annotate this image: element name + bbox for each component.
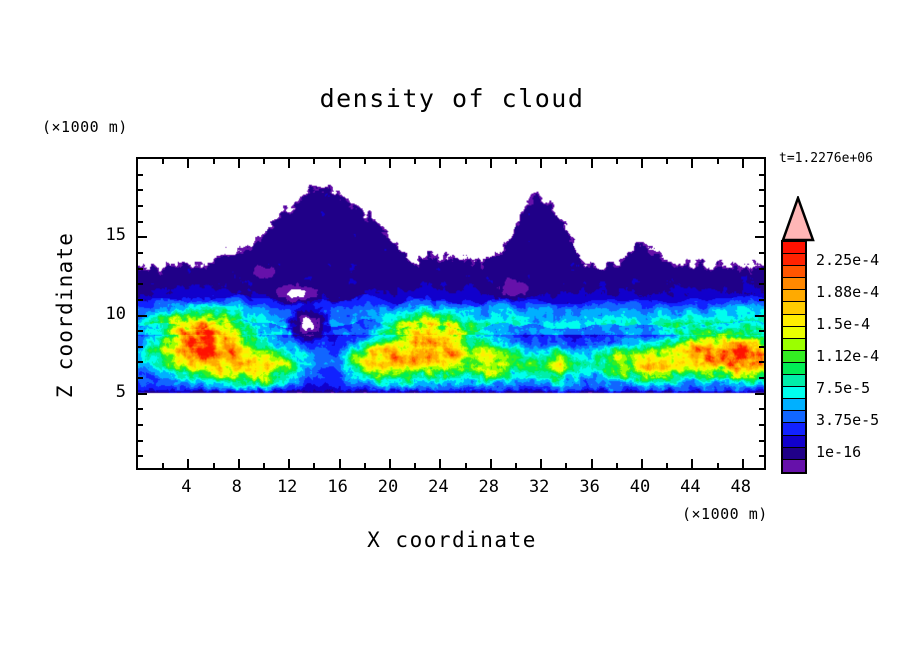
x-tick-minor xyxy=(465,463,467,468)
y-tick-right-minor xyxy=(759,221,764,223)
x-tick-minor xyxy=(414,463,416,468)
y-tick-right-minor xyxy=(759,424,764,426)
colorbar-tick-label: 3.75e-5 xyxy=(816,411,879,429)
x-tick-label: 40 xyxy=(630,477,650,497)
y-tick-right-minor xyxy=(759,377,764,379)
contour-field xyxy=(138,159,764,468)
x-tick-top-minor xyxy=(565,159,567,164)
colorbar-band xyxy=(783,339,805,351)
x-tick-label: 12 xyxy=(277,477,297,497)
x-tick-minor xyxy=(515,463,517,468)
plot-area xyxy=(136,157,766,470)
y-tick-right-minor xyxy=(759,440,764,442)
page-title: density of cloud xyxy=(0,84,904,113)
x-tick-label: 48 xyxy=(731,477,751,497)
x-tick-major xyxy=(742,459,744,468)
x-tick-top-major xyxy=(742,159,744,168)
colorbar-band xyxy=(783,290,805,302)
y-tick-minor xyxy=(138,252,143,254)
x-tick-major xyxy=(540,459,542,468)
colorbar-band xyxy=(783,327,805,339)
figure-canvas: density of cloud (×1000 m) (×1000 m) X c… xyxy=(0,0,904,654)
x-tick-minor xyxy=(313,463,315,468)
x-tick-top-major xyxy=(591,159,593,168)
colorbar-band xyxy=(783,436,805,448)
colorbar-band xyxy=(783,399,805,411)
x-tick-major xyxy=(641,459,643,468)
y-tick-major xyxy=(138,236,147,238)
x-tick-minor xyxy=(717,463,719,468)
x-tick-top-minor xyxy=(364,159,366,164)
x-tick-major xyxy=(691,459,693,468)
y-tick-minor xyxy=(138,221,143,223)
y-tick-right-minor xyxy=(759,299,764,301)
colorbar-band xyxy=(783,315,805,327)
x-axis-units-label: (×1000 m) xyxy=(682,505,768,523)
x-tick-top-major xyxy=(490,159,492,168)
y-tick-right-minor xyxy=(759,252,764,254)
colorbar-band xyxy=(783,423,805,435)
y-tick-minor xyxy=(138,174,143,176)
x-tick-top-minor xyxy=(616,159,618,164)
y-tick-minor xyxy=(138,205,143,207)
colorbar-band xyxy=(783,242,805,254)
x-tick-major xyxy=(187,459,189,468)
y-tick-minor xyxy=(138,299,143,301)
colorbar-band xyxy=(783,278,805,290)
colorbar-band xyxy=(783,363,805,375)
x-tick-top-major xyxy=(641,159,643,168)
x-tick-top-major xyxy=(187,159,189,168)
colorbar-band xyxy=(783,375,805,387)
x-tick-top-major xyxy=(439,159,441,168)
y-tick-minor xyxy=(138,455,143,457)
y-tick-right-minor xyxy=(759,361,764,363)
colorbar-band xyxy=(783,266,805,278)
x-tick-top-minor xyxy=(666,159,668,164)
y-tick-minor xyxy=(138,346,143,348)
x-tick-top-minor xyxy=(313,159,315,164)
y-tick-right-minor xyxy=(759,346,764,348)
x-tick-top-minor xyxy=(414,159,416,164)
colorbar-band xyxy=(783,460,805,472)
x-tick-label: 4 xyxy=(181,477,191,497)
x-tick-top-major xyxy=(238,159,240,168)
colorbar-tick-label: 1.12e-4 xyxy=(816,347,879,365)
x-tick-minor xyxy=(565,463,567,468)
x-tick-label: 32 xyxy=(529,477,549,497)
y-tick-right-major xyxy=(755,236,764,238)
x-tick-major xyxy=(389,459,391,468)
x-tick-minor xyxy=(213,463,215,468)
x-tick-top-minor xyxy=(213,159,215,164)
x-tick-top-major xyxy=(288,159,290,168)
x-tick-label: 44 xyxy=(680,477,700,497)
x-tick-major xyxy=(238,459,240,468)
x-tick-top-major xyxy=(540,159,542,168)
colorbar-band xyxy=(783,351,805,363)
y-tick-minor xyxy=(138,361,143,363)
colorbar-tick-label: 1.5e-4 xyxy=(816,315,870,333)
y-tick-minor xyxy=(138,189,143,191)
x-tick-major xyxy=(439,459,441,468)
x-tick-label: 24 xyxy=(428,477,448,497)
x-tick-minor xyxy=(616,463,618,468)
colorbar-tick-label: 2.25e-4 xyxy=(816,251,879,269)
colorbar-tick-label: 7.5e-5 xyxy=(816,379,870,397)
y-tick-right-minor xyxy=(759,189,764,191)
x-tick-label: 36 xyxy=(579,477,599,497)
y-tick-right-minor xyxy=(759,205,764,207)
y-tick-minor xyxy=(138,440,143,442)
y-tick-right-major xyxy=(755,315,764,317)
x-tick-top-minor xyxy=(717,159,719,164)
colorbar-band xyxy=(783,254,805,266)
x-tick-top-minor xyxy=(515,159,517,164)
y-tick-right-major xyxy=(755,393,764,395)
x-tick-minor xyxy=(162,463,164,468)
y-tick-label: 10 xyxy=(94,304,126,324)
y-tick-major xyxy=(138,315,147,317)
y-tick-label: 5 xyxy=(94,382,126,402)
y-tick-right-minor xyxy=(759,268,764,270)
y-tick-right-minor xyxy=(759,455,764,457)
colorbar-bands xyxy=(781,240,807,474)
y-tick-right-minor xyxy=(759,408,764,410)
y-tick-label: 15 xyxy=(94,225,126,245)
time-annotation: t=1.2276e+06 xyxy=(779,151,873,166)
colorbar: 2.25e-41.88e-41.5e-41.12e-47.5e-53.75e-5… xyxy=(772,196,904,486)
x-axis-title: X coordinate xyxy=(0,528,904,552)
y-tick-major xyxy=(138,393,147,395)
x-tick-major xyxy=(591,459,593,468)
y-tick-minor xyxy=(138,377,143,379)
x-tick-top-minor xyxy=(162,159,164,164)
y-tick-minor xyxy=(138,424,143,426)
colorbar-overflow-arrow-icon xyxy=(781,196,815,242)
colorbar-band xyxy=(783,448,805,460)
x-tick-major xyxy=(490,459,492,468)
y-tick-right-minor xyxy=(759,330,764,332)
x-tick-minor xyxy=(364,463,366,468)
y-tick-minor xyxy=(138,330,143,332)
y-axis-units-label: (×1000 m) xyxy=(42,118,128,136)
x-tick-minor xyxy=(263,463,265,468)
y-tick-minor xyxy=(138,283,143,285)
x-tick-label: 20 xyxy=(378,477,398,497)
y-tick-minor xyxy=(138,408,143,410)
y-axis-title: Z coordinate xyxy=(53,232,77,398)
colorbar-tick-label: 1.88e-4 xyxy=(816,283,879,301)
y-tick-right-minor xyxy=(759,174,764,176)
x-tick-top-major xyxy=(339,159,341,168)
x-tick-minor xyxy=(666,463,668,468)
colorbar-band xyxy=(783,302,805,314)
x-tick-top-minor xyxy=(263,159,265,164)
x-tick-label: 16 xyxy=(327,477,347,497)
x-tick-major xyxy=(288,459,290,468)
y-tick-minor xyxy=(138,268,143,270)
x-tick-major xyxy=(339,459,341,468)
x-tick-top-major xyxy=(691,159,693,168)
x-tick-top-minor xyxy=(465,159,467,164)
x-tick-label: 28 xyxy=(479,477,499,497)
colorbar-tick-label: 1e-16 xyxy=(816,443,861,461)
colorbar-band xyxy=(783,387,805,399)
y-tick-right-minor xyxy=(759,283,764,285)
x-tick-top-major xyxy=(389,159,391,168)
x-tick-label: 8 xyxy=(232,477,242,497)
colorbar-band xyxy=(783,411,805,423)
y-axis-title-container: Z coordinate xyxy=(53,230,77,400)
